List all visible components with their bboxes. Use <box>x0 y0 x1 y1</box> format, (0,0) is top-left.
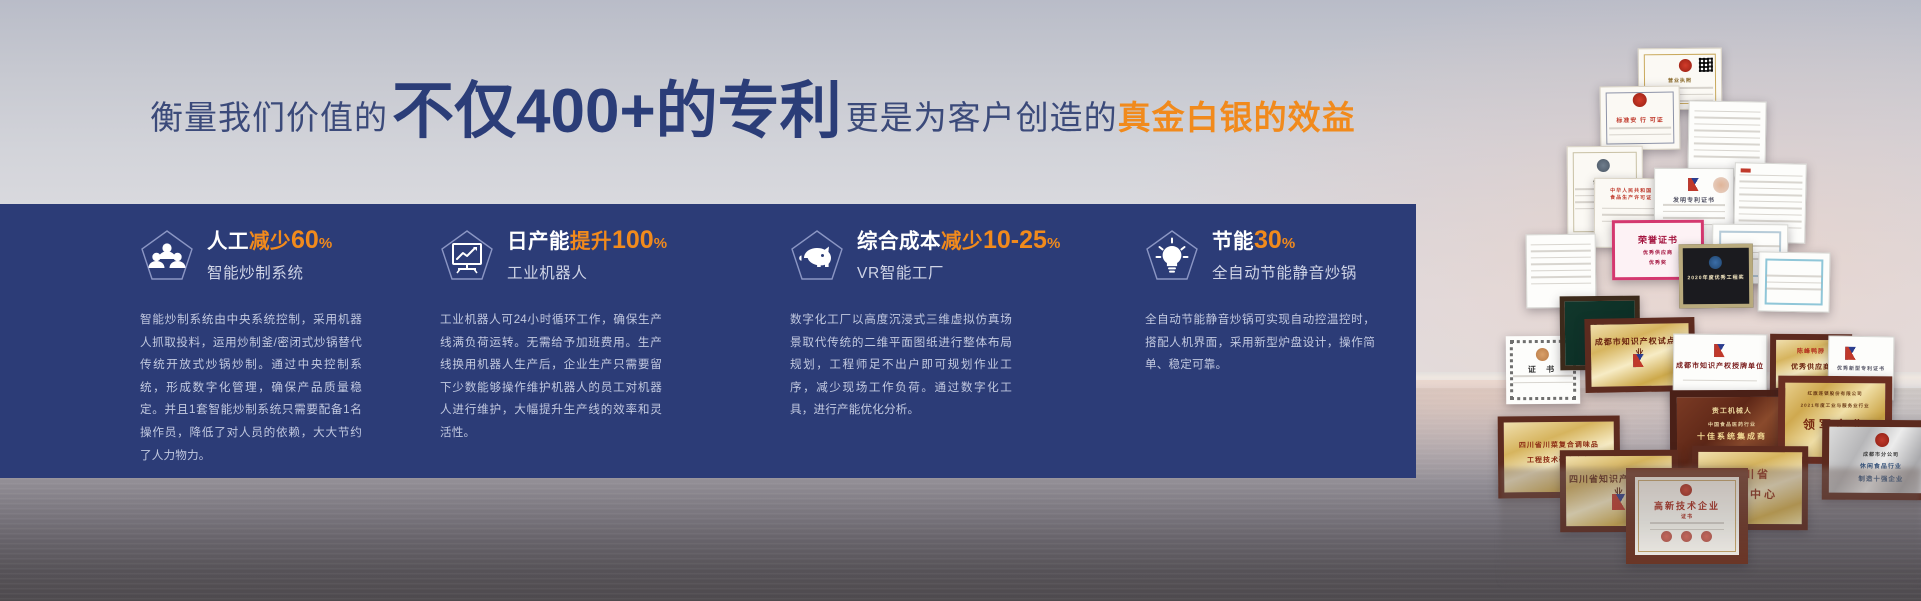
feature-description: 工业机器人可24小时循环工作，确保生产线满负荷运转。无需给予加班费用。生产线换用… <box>440 309 662 445</box>
feature-title-number: 10-25 <box>983 226 1047 254</box>
feature-title-highlight: 减少 <box>249 230 291 253</box>
feature-title: 人工减少60% <box>207 226 333 254</box>
feature-title-percent: % <box>1282 235 1296 252</box>
feature-card-cost: 综合成本减少10-25% VR智能工厂 数字化工厂以高度沉浸式三维虚拟仿真场景取… <box>735 204 1085 478</box>
feature-title-number: 30 <box>1254 226 1282 254</box>
certificate-item: 2020年度优秀工程奖 <box>1679 244 1754 309</box>
lightbulb-icon <box>1145 229 1199 285</box>
certificate-item <box>1757 251 1830 312</box>
feature-card-labor: 人工减少60% 智能炒制系统 智能炒制系统由中央系统控制，采用机器人抓取投料，运… <box>0 204 395 478</box>
certificate-reflection <box>1500 468 1921 588</box>
feature-description: 数字化工厂以高度沉浸式三维虚拟仿真场景取代传统的二维平面图纸进行整体布局规划，工… <box>790 309 1012 422</box>
feature-card-capacity: 日产能提升100% 工业机器人 工业机器人可24小时循环工作，确保生产线满负荷运… <box>395 204 735 478</box>
feature-title: 节能30% <box>1212 226 1357 254</box>
feature-title-number: 100 <box>612 226 654 254</box>
headline-highlight: 真金白银的效益 <box>1118 91 1356 139</box>
feature-subtitle: 工业机器人 <box>507 261 668 283</box>
feature-title: 日产能提升100% <box>507 226 668 254</box>
headline-prefix: 衡量我们价值的 <box>150 91 388 139</box>
people-group-icon <box>140 229 194 285</box>
certificate-item: 标准安 行 可证 <box>1600 85 1681 150</box>
feature-title-plain: 日产能 <box>507 230 570 253</box>
feature-title-percent: % <box>654 235 668 252</box>
feature-description: 智能炒制系统由中央系统控制，采用机器人抓取投料，运用炒制釜/密闭式炒锅替代传统开… <box>140 309 362 467</box>
headline-emphasis: 不仅400+的专利 <box>392 81 842 143</box>
feature-title-plain: 综合成本 <box>857 230 941 253</box>
feature-title-percent: % <box>319 235 333 252</box>
feature-title-percent: % <box>1047 235 1061 252</box>
chart-board-icon <box>440 229 494 285</box>
page-title: 衡量我们价值的 不仅400+的专利 更是为客户创造的 真金白银的效益 <box>150 78 1356 140</box>
feature-subtitle: 全自动节能静音炒锅 <box>1212 261 1357 283</box>
features-panel: 人工减少60% 智能炒制系统 智能炒制系统由中央系统控制，采用机器人抓取投料，运… <box>0 204 1416 478</box>
feature-title-number: 60 <box>291 226 319 254</box>
feature-title-plain: 节能 <box>1212 230 1254 253</box>
feature-card-energy: 节能30% 全自动节能静音炒锅 全自动节能静音炒锅可实现自动控温控时，搭配人机界… <box>1085 204 1416 478</box>
feature-title: 综合成本减少10-25% <box>857 226 1061 254</box>
feature-title-highlight: 减少 <box>941 230 983 253</box>
feature-subtitle: VR智能工厂 <box>857 261 1061 283</box>
feature-title-plain: 人工 <box>207 230 249 253</box>
promo-banner: 衡量我们价值的 不仅400+的专利 更是为客户创造的 真金白银的效益 <box>0 0 1921 601</box>
headline-middle: 更是为客户创造的 <box>846 91 1118 139</box>
feature-subtitle: 智能炒制系统 <box>207 261 333 283</box>
feature-title-highlight: 提升 <box>570 230 612 253</box>
feature-description: 全自动节能静音炒锅可实现自动控温控时，搭配人机界面，采用新型炉盘设计，操作简单、… <box>1145 309 1375 377</box>
piggy-bank-icon <box>790 229 844 285</box>
